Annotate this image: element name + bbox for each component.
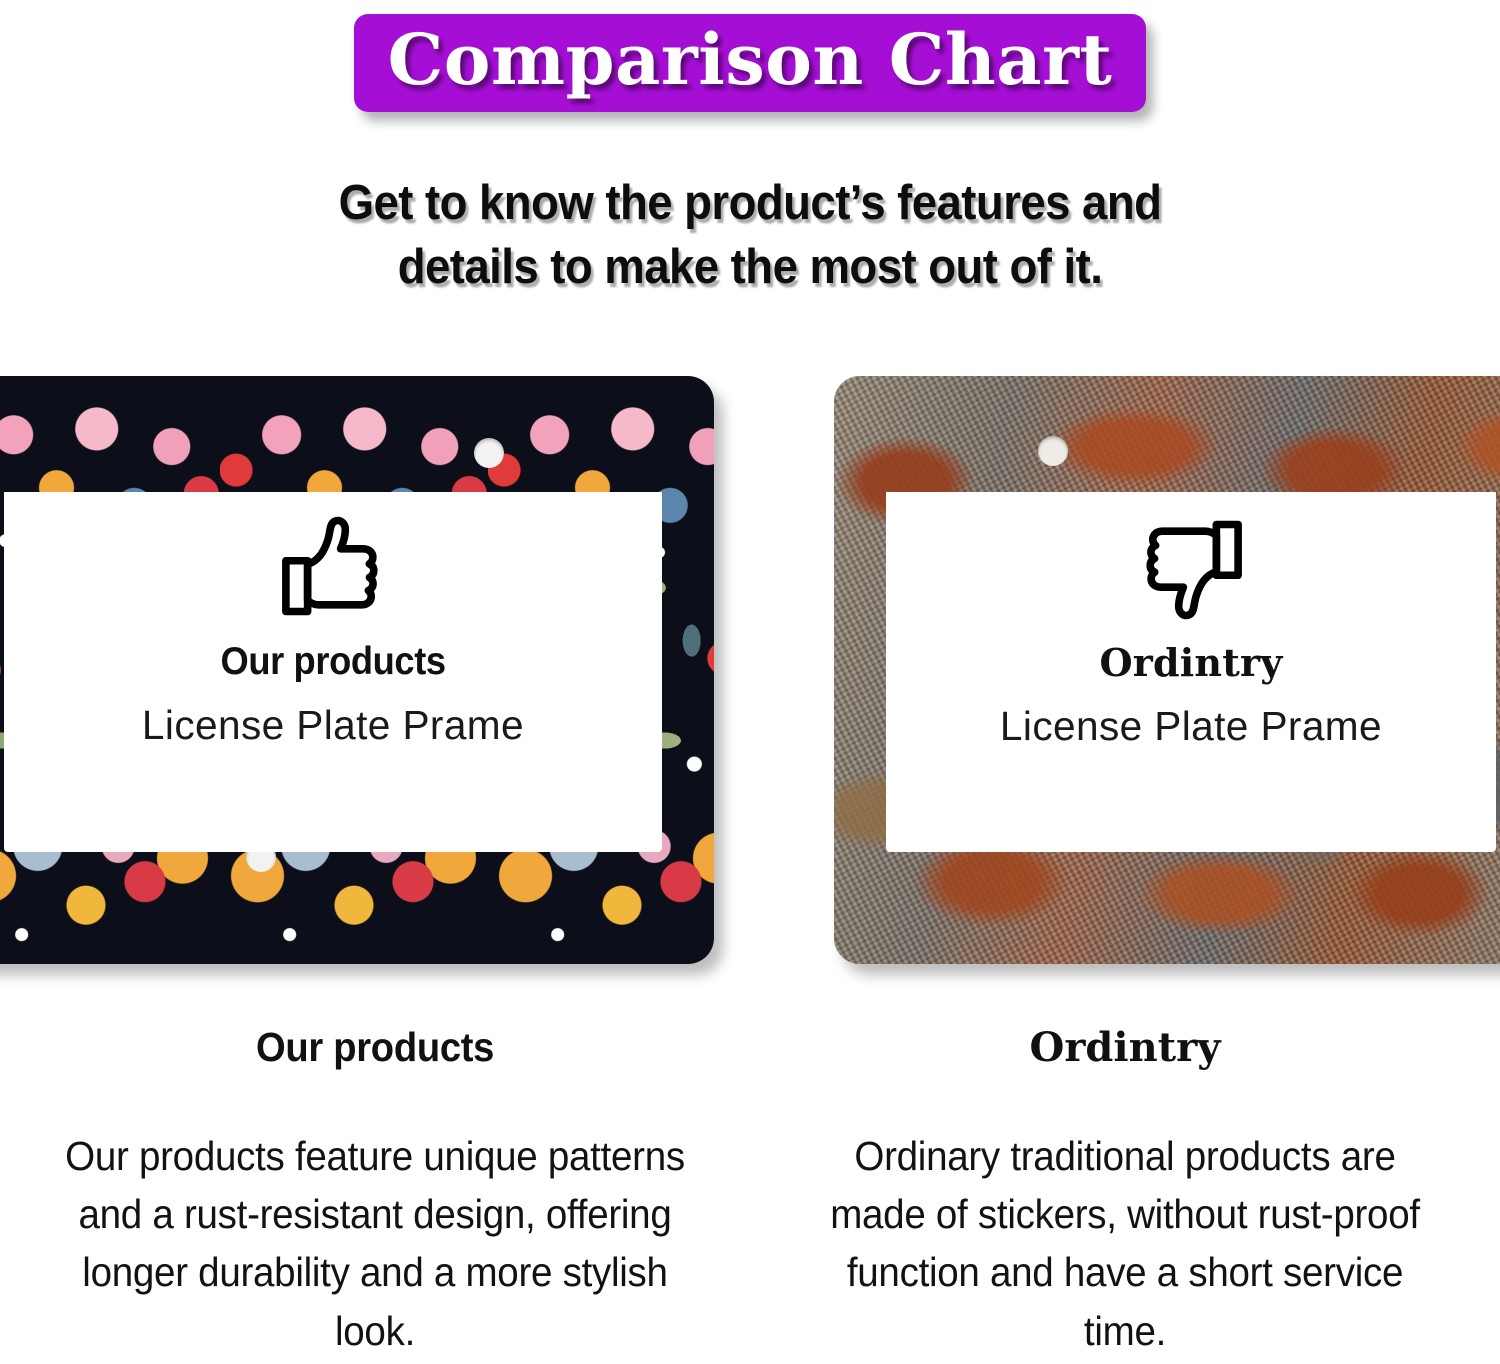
ordinary-product-frame-heading: Ordintry — [1099, 640, 1282, 685]
ordinary-product-column-heading: Ordintry — [1030, 1024, 1221, 1071]
thumbs-up-icon — [274, 510, 392, 626]
title-banner: Comparison Chart — [354, 14, 1147, 112]
ordinary-product-frame-subheading: License Plate Prame — [1000, 703, 1382, 750]
description-columns-row: Our products Our products feature unique… — [0, 1024, 1500, 1360]
our-product-frame-subheading: License Plate Prame — [142, 702, 524, 749]
ordinary-product-window-content: Ordintry License Plate Prame — [886, 492, 1496, 852]
plate-window: Ordintry License Plate Prame — [886, 492, 1496, 852]
page-title: Comparison Chart — [388, 20, 1113, 100]
title-banner-wrapper: Comparison Chart — [0, 14, 1500, 112]
comparison-chart-page: Comparison Chart Get to know the product… — [0, 0, 1500, 1364]
page-subtitle: Get to know the product’s features and d… — [53, 172, 1448, 299]
ordinary-product-plate: Ordintry License Plate Prame — [834, 376, 1500, 964]
ordinary-product-description-column: Ordintry Ordinary traditional products a… — [750, 1024, 1500, 1360]
our-product-description-column: Our products Our products feature unique… — [0, 1024, 750, 1360]
our-product-plate: Our products License Plate Prame — [0, 376, 714, 964]
subtitle-line-2: details to make the most out of it. — [118, 236, 1383, 300]
ordinary-product-frame-block: Ordintry License Plate Prame — [834, 376, 1500, 964]
our-product-column-body: Our products feature unique patterns and… — [62, 1127, 688, 1360]
our-product-frame-block: Our products License Plate Prame — [0, 376, 714, 964]
our-product-frame-heading: Our products — [220, 640, 445, 684]
plate-window: Our products License Plate Prame — [4, 492, 662, 852]
thumbs-down-icon — [1132, 510, 1250, 626]
product-frames-row: Our products License Plate Prame — [0, 376, 1500, 964]
ordinary-product-column-body: Ordinary traditional products are made o… — [812, 1127, 1438, 1360]
mounting-hole — [1038, 436, 1068, 466]
subtitle-line-1: Get to know the product’s features and — [118, 172, 1383, 236]
mounting-hole — [474, 438, 504, 468]
our-product-column-heading: Our products — [256, 1024, 494, 1071]
our-product-window-content: Our products License Plate Prame — [4, 492, 662, 852]
